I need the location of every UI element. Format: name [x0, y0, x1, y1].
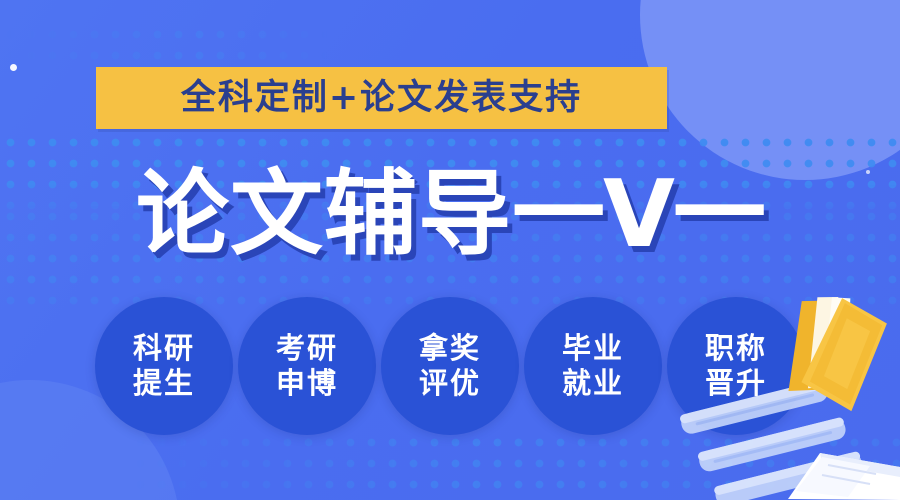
- badge-zhicheng-jinsheng[interactable]: 职称 晋升: [667, 297, 805, 435]
- badge-najiang-pingyou[interactable]: 拿奖 评优: [381, 297, 519, 435]
- badge-keyan-tisheng[interactable]: 科研 提生: [95, 297, 233, 435]
- badge-line-1: 职称: [705, 331, 767, 366]
- badge-line-1: 拿奖: [419, 331, 481, 366]
- headline-main-text: 论文辅导: [136, 168, 512, 261]
- badge-line-2: 申博: [276, 366, 338, 401]
- decorative-blob-top-right: [640, 0, 900, 180]
- subbanner-highlight: 全科定制+论文发表支持: [96, 67, 667, 129]
- badge-line-2: 提生: [133, 366, 195, 401]
- subbanner-text: 全科定制+论文发表支持: [181, 81, 582, 116]
- open-book-icon: [788, 453, 900, 500]
- decorative-dot-left: [10, 64, 17, 71]
- badge-biye-jiuye[interactable]: 毕业 就业: [524, 297, 662, 435]
- headline-tail-text: 一V一: [512, 168, 764, 261]
- halftone-dots-upper-left: [0, 24, 330, 72]
- badge-line-1: 考研: [276, 331, 338, 366]
- badge-kaoyan-shenbo[interactable]: 考研 申博: [238, 297, 376, 435]
- badge-line-2: 就业: [562, 366, 624, 401]
- badge-line-2: 晋升: [705, 366, 767, 401]
- headline: 论文辅导 一V一: [0, 160, 900, 268]
- promo-banner: 全科定制+论文发表支持 论文辅导 一V一 科研 提生 考研 申博 拿奖 评优 毕…: [0, 0, 900, 500]
- badge-row: 科研 提生 考研 申博 拿奖 评优 毕业 就业 职称 晋升: [95, 297, 805, 435]
- badge-line-2: 评优: [419, 366, 481, 401]
- halftone-dots-bottom: [130, 432, 900, 498]
- badge-line-1: 毕业: [562, 331, 624, 366]
- badge-line-1: 科研: [133, 331, 195, 366]
